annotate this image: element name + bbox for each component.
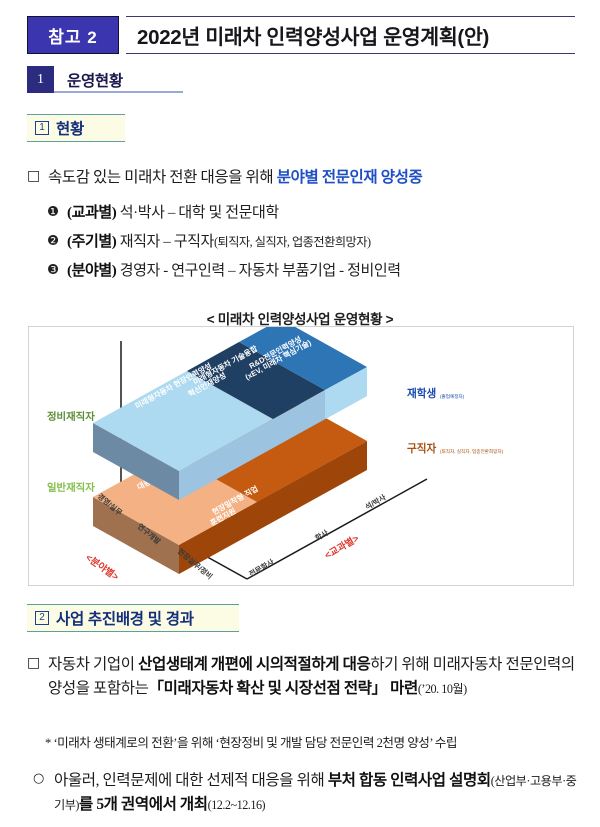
list-item-1-category: (교과별) <box>67 205 116 221</box>
section-label: 운영현황 <box>54 66 177 93</box>
background-paragraph-2-text: 아울러, 인력문제에 대한 선제적 대응을 위해 부처 합동 인력사업 설명회(… <box>54 769 578 816</box>
background-paragraph-1-text: 자동차 기업이 산업생태계 개편에 시의적절하게 대응하기 위해 미래자동차 전… <box>48 653 575 700</box>
document-page: 참고 2 2022년 미래차 인력양성사업 운영계획(안) 1 운영현황 1 현… <box>0 0 600 827</box>
subsection-heading-status: 1 현황 <box>27 114 125 142</box>
right-label-student: 재학생 <box>407 387 436 400</box>
list-item-2-text: (주기별) 재직자 – 구직자(퇴직자, 실직자, 업종전환희망자) <box>67 231 371 254</box>
background-note-text: * ‘미래차 생태계로의 전환’을 위해 ‘현장정비 및 개발 담당 전문인력 … <box>45 734 585 753</box>
title-rule-wrapper: 2022년 미래차 인력양성사업 운영계획(안) <box>126 16 575 54</box>
bg-p1-seg5: (’20. 10월) <box>418 682 467 696</box>
bg-p1-seg2: 산업생태계 개편에 시의적절하게 대응 <box>138 656 370 673</box>
list-item-2-category: (주기별) <box>67 234 116 250</box>
bg-p2-seg2: 부처 합동 인력사업 설명회 <box>328 772 491 789</box>
list-item-2-note: (퇴직자, 실직자, 업종전환희망자) <box>214 235 371 249</box>
circled-number-1-icon: ❶ <box>47 202 67 225</box>
circle-bullet-icon: ○ <box>33 769 54 816</box>
subsection2-number: 2 <box>35 611 49 625</box>
section-number: 1 <box>27 66 54 93</box>
circled-number-3-icon: ❸ <box>47 260 67 283</box>
right-label-student-note: (졸업예정자) <box>440 393 465 400</box>
circled-number-2-icon: ❷ <box>47 231 67 254</box>
bg-p2-seg5: (12.2~12.16) <box>208 798 265 812</box>
right-label-jobseeker: 구직자 <box>407 442 436 455</box>
background-note: * ‘미래차 생태계로의 전환’을 위해 ‘현장정비 및 개발 담당 전문인력 … <box>45 734 585 753</box>
figure-caption: < 미래차 인력양성사업 운영현황 > <box>0 308 600 328</box>
status-text-highlight: 분야별 전문인재 양성중 <box>277 169 423 186</box>
status-bullet-text: 속도감 있는 미래차 전환 대응을 위해 분야별 전문인재 양성중 <box>48 166 573 190</box>
page-title: 2022년 미래차 인력양성사업 운영계획(안) <box>126 20 489 50</box>
list-item-2-body: 재직자 – 구직자 <box>116 234 214 250</box>
axis-y-tick-1: 전문학사 <box>248 557 276 578</box>
figure-diagram-box: 사업재편준비 대응역량강화 현장밀착형 직업 훈련지원 <box>28 326 574 586</box>
list-item-1: ❶ (교과별) 석·박사 – 대학 및 전문대학 <box>47 202 577 225</box>
subsection-label: 현황 <box>56 117 84 139</box>
axis-y-tick-3: 석/박사 <box>364 493 388 512</box>
list-item-3-category: (분야별) <box>67 263 116 279</box>
subsection-number: 1 <box>35 121 49 135</box>
bg-p1-seg1: 자동차 기업이 <box>48 656 138 673</box>
square-bullet-icon: □ <box>27 166 48 190</box>
pyramid-diagram-svg: 사업재편준비 대응역량강화 현장밀착형 직업 훈련지원 <box>29 327 573 585</box>
status-text-plain: 속도감 있는 미래차 전환 대응을 위해 <box>48 169 277 186</box>
left-label-maintenance-worker: 정비재직자 <box>47 410 95 423</box>
list-item-2: ❷ (주기별) 재직자 – 구직자(퇴직자, 실직자, 업종전환희망자) <box>47 231 577 254</box>
background-paragraph-2: ○ 아울러, 인력문제에 대한 선제적 대응을 위해 부처 합동 인력사업 설명… <box>33 769 578 816</box>
list-item-1-text: (교과별) 석·박사 – 대학 및 전문대학 <box>67 202 279 225</box>
list-item-3-text: (분야별) 경영자 - 연구인력 – 자동차 부품기업 - 정비인력 <box>67 260 401 283</box>
left-label-general-worker: 일반재직자 <box>47 481 95 494</box>
section-heading-operations: 1 운영현황 <box>27 66 177 93</box>
square-bullet-icon-2: □ <box>27 653 48 700</box>
status-bullet: □ 속도감 있는 미래차 전환 대응을 위해 분야별 전문인재 양성중 <box>27 166 573 190</box>
right-label-jobseeker-note: (퇴직자, 실직자, 업종전환희망자) <box>440 448 504 455</box>
background-paragraph-1: □ 자동차 기업이 산업생태계 개편에 시의적절하게 대응하기 위해 미래자동차… <box>27 653 575 700</box>
list-item-3-body: 경영자 - 연구인력 – 자동차 부품기업 - 정비인력 <box>116 263 400 279</box>
diagram-left-labels: 정비재직자 일반재직자 <box>47 410 95 494</box>
reference-badge: 참고 2 <box>27 16 119 54</box>
diagram-right-labels: 재학생 (졸업예정자) 구직자 (퇴직자, 실직자, 업종전환희망자) <box>407 387 504 455</box>
bg-p1-seg4: 「미래자동차 확산 및 시장선점 전략」 마련 <box>149 680 418 697</box>
axis-x-label: <분야별> <box>83 552 121 584</box>
document-header: 참고 2 2022년 미래차 인력양성사업 운영계획(안) <box>27 16 575 54</box>
bg-p2-seg4: 를 5개 권역에서 개최 <box>79 796 208 813</box>
list-item-1-body: 석·박사 – 대학 및 전문대학 <box>116 205 278 221</box>
axis-y-tick-2: 학사 <box>314 528 330 543</box>
subsection-heading-background: 2 사업 추진배경 및 경과 <box>27 604 239 632</box>
list-item-3: ❸ (분야별) 경영자 - 연구인력 – 자동차 부품기업 - 정비인력 <box>47 260 577 283</box>
subsection2-label: 사업 추진배경 및 경과 <box>56 607 194 629</box>
bg-p2-seg1: 아울러, 인력문제에 대한 선제적 대응을 위해 <box>54 772 328 789</box>
